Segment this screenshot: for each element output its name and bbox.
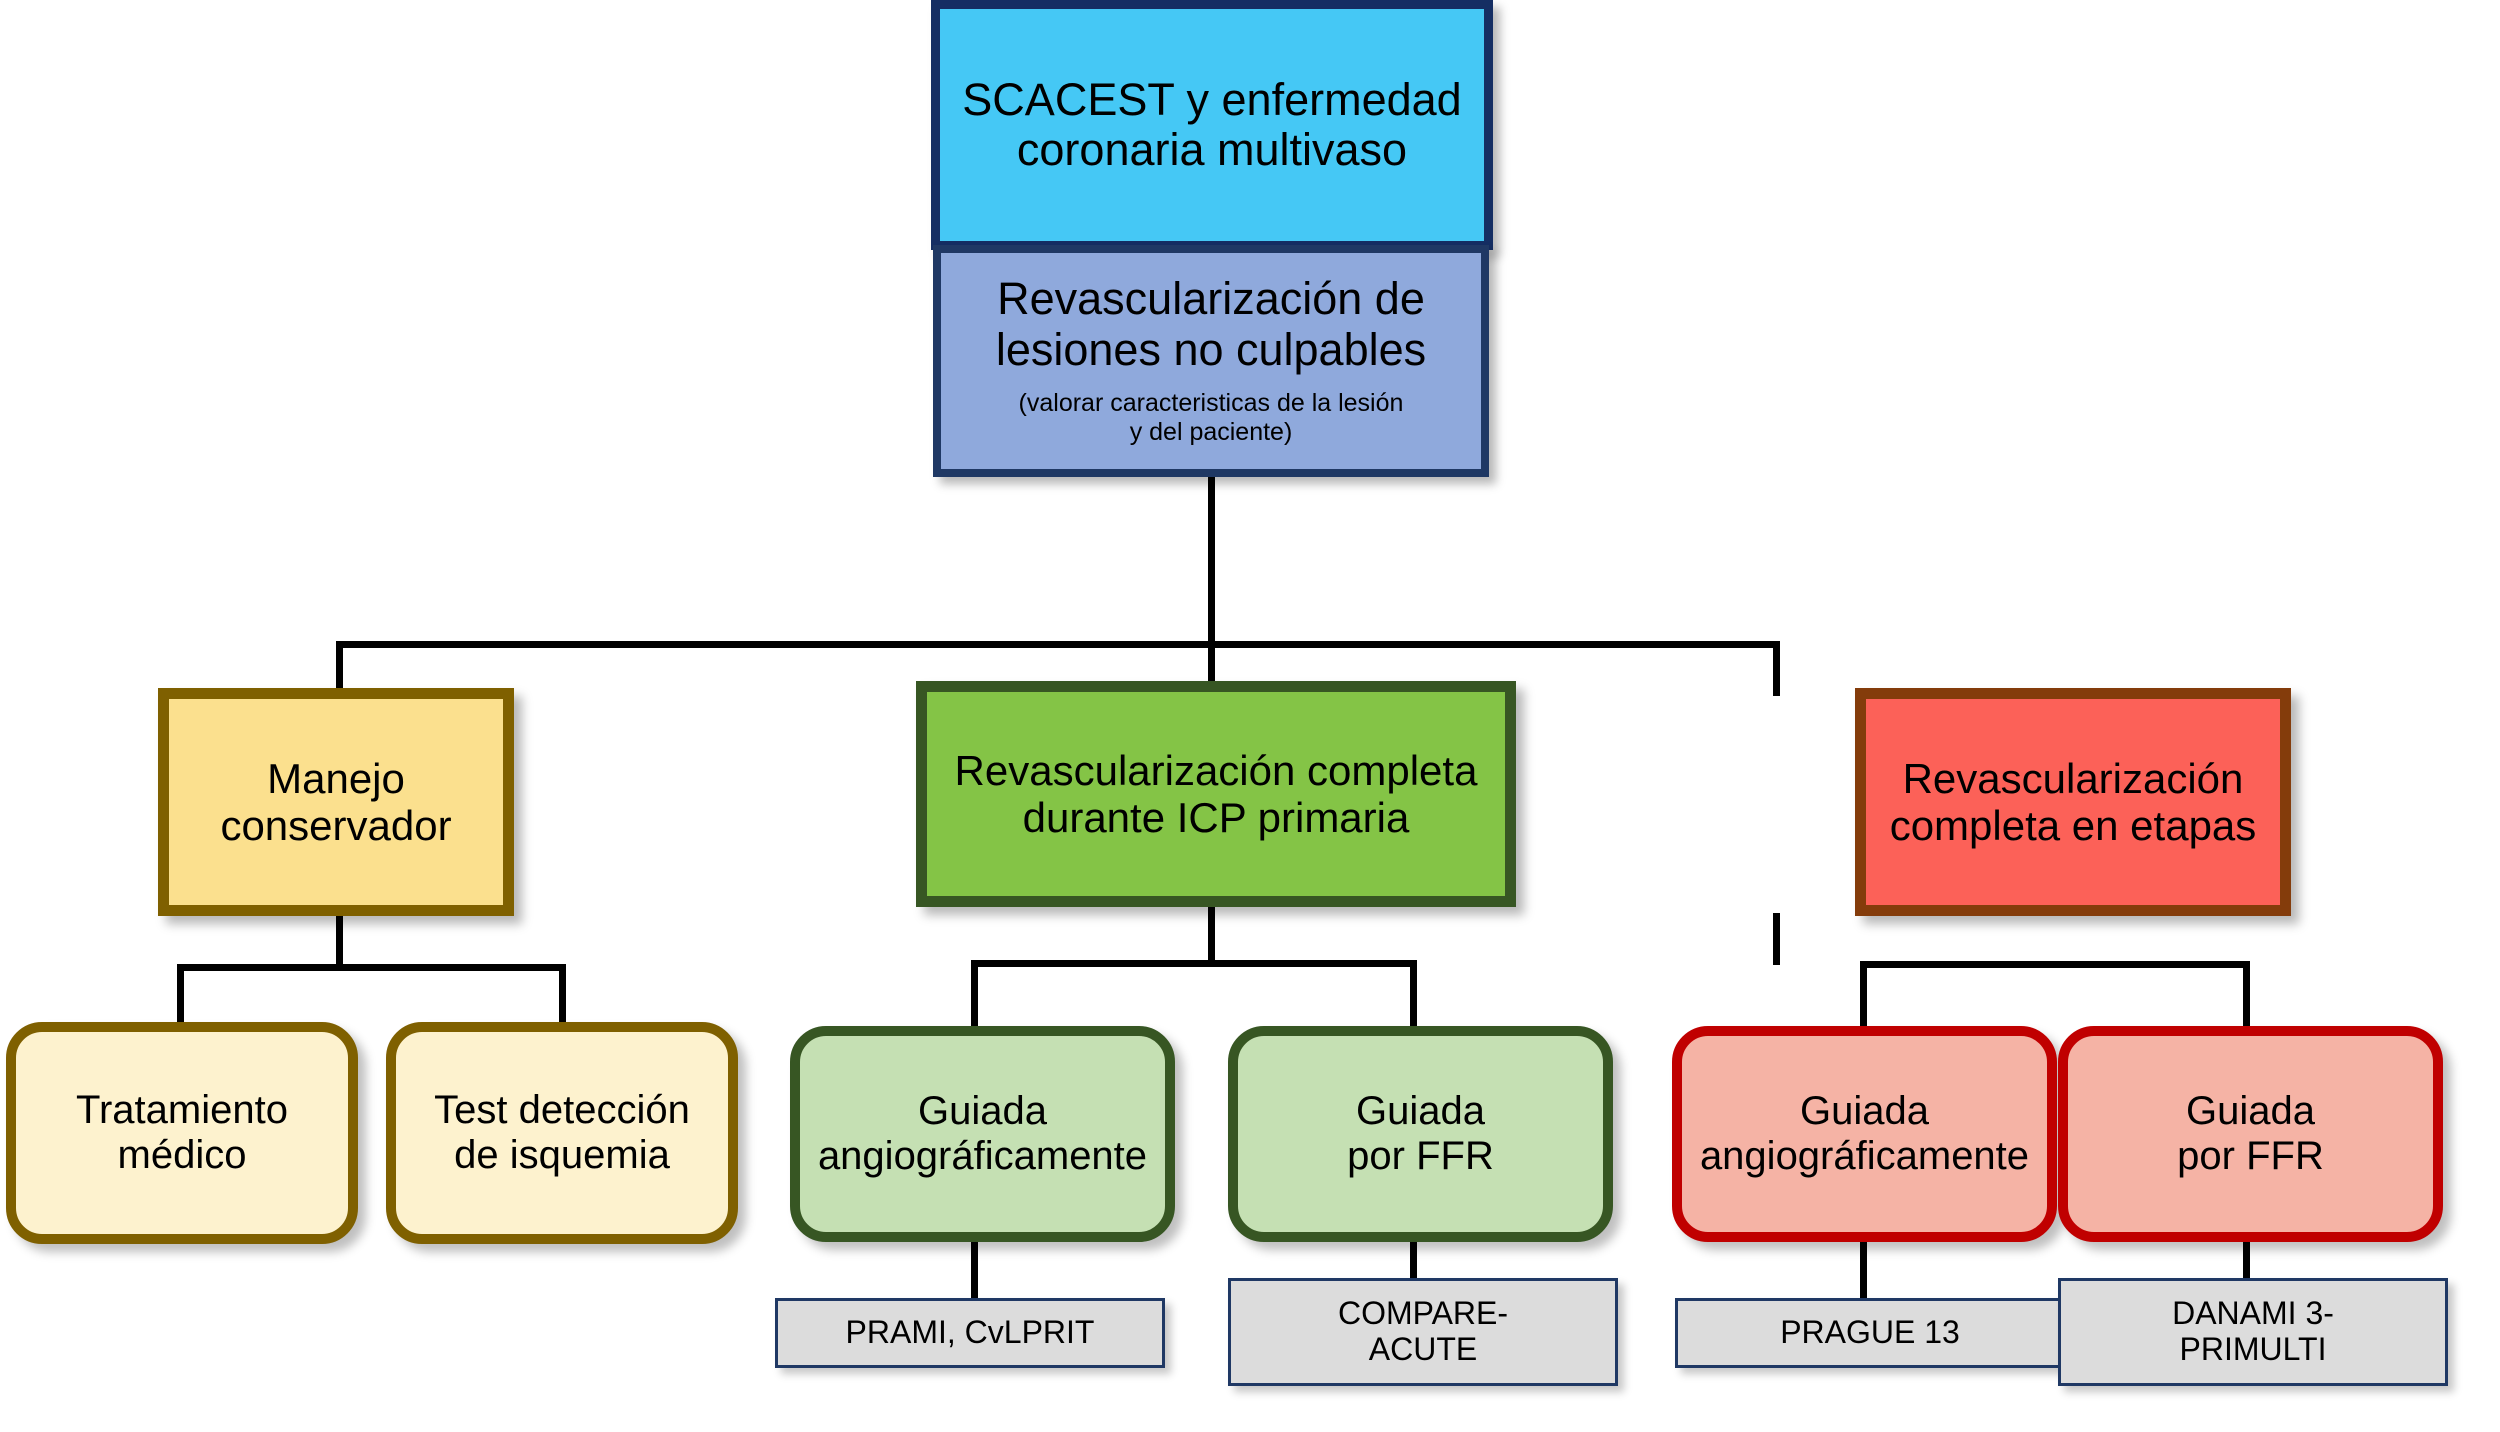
connector-icp-bus [971,960,1417,967]
node-tratamiento-medico-label: Tratamiento médico [76,1088,288,1178]
connector-icp-to-guiada-angio [971,960,978,1026]
node-icp-guiada-ffr-label: Guiada por FFR [1347,1089,1494,1179]
connector-etapas-to-guiada-ffr [2243,961,2250,1026]
connector-icp-angio-to-prami [971,1237,978,1301]
node-manejo-conservador[interactable]: Manejo conservador [158,688,514,916]
connector-icp-stem [1208,903,1215,965]
trial-prami-cvlprit-label: PRAMI, CvLPRIT [846,1315,1095,1351]
connector-bus-to-revasc-completa-etapas [1773,641,1780,696]
flowchart-canvas: SCACEST y enfermedad coronaria multivaso… [0,0,2500,1432]
trial-danami-3-primulti-label: DANAMI 3- PRIMULTI [2172,1296,2334,1368]
node-test-isquemia-label: Test detección de isquemia [434,1088,690,1178]
connector-manejo-to-tratamiento-medico [177,964,184,1026]
node-revasc-completa-etapas[interactable]: Revascularización completa en etapas [1855,688,2291,916]
trial-compare-acute[interactable]: COMPARE- ACUTE [1228,1278,1618,1386]
node-etapas-guiada-ffr[interactable]: Guiada por FFR [2058,1026,2443,1242]
connector-revascularizacion-stem [1208,475,1215,647]
node-tratamiento-medico[interactable]: Tratamiento médico [6,1022,358,1244]
trial-danami-3-primulti[interactable]: DANAMI 3- PRIMULTI [2058,1278,2448,1386]
node-root[interactable]: SCACEST y enfermedad coronaria multivaso [931,0,1493,250]
node-icp-guiada-angio-label: Guiada angiográficamente [818,1089,1147,1179]
connector-etapas-angio-to-prague13 [1860,1237,1867,1301]
trial-compare-acute-label: COMPARE- ACUTE [1338,1296,1508,1368]
connector-manejo-stem [336,913,343,968]
node-icp-guiada-angio[interactable]: Guiada angiográficamente [790,1026,1175,1242]
trial-prague-13[interactable]: PRAGUE 13 [1675,1298,2065,1368]
connector-manejo-bus [177,964,566,971]
node-etapas-guiada-angio[interactable]: Guiada angiográficamente [1672,1026,2057,1242]
trial-prami-cvlprit[interactable]: PRAMI, CvLPRIT [775,1298,1165,1368]
connector-icp-to-guiada-ffr [1410,960,1417,1026]
node-revascularizacion[interactable]: Revascularización de lesiones no culpabl… [933,245,1489,477]
connector-manejo-to-test-isquemia [559,964,566,1026]
node-revascularizacion-label: Revascularización de lesiones no culpabl… [996,274,1426,375]
connector-etapas-stem [1773,913,1780,965]
node-icp-guiada-ffr[interactable]: Guiada por FFR [1228,1026,1613,1242]
connector-level3-bus [336,641,1780,648]
connector-etapas-to-guiada-angio [1860,961,1867,1026]
connector-etapas-bus [1860,961,2250,968]
node-etapas-guiada-angio-label: Guiada angiográficamente [1700,1089,2029,1179]
node-revasc-completa-etapas-label: Revascularización completa en etapas [1890,755,2257,849]
node-revasc-completa-icp[interactable]: Revascularización completa durante ICP p… [916,681,1516,907]
node-revascularizacion-sublabel: (valorar caracteristicas de la lesión y … [1019,389,1404,448]
node-test-isquemia[interactable]: Test detección de isquemia [386,1022,738,1244]
node-revasc-completa-icp-label: Revascularización completa durante ICP p… [955,747,1478,841]
node-manejo-conservador-label: Manejo conservador [220,755,451,849]
trial-prague-13-label: PRAGUE 13 [1780,1315,1960,1351]
node-etapas-guiada-ffr-label: Guiada por FFR [2177,1089,2324,1179]
node-root-label: SCACEST y enfermedad coronaria multivaso [962,75,1461,176]
